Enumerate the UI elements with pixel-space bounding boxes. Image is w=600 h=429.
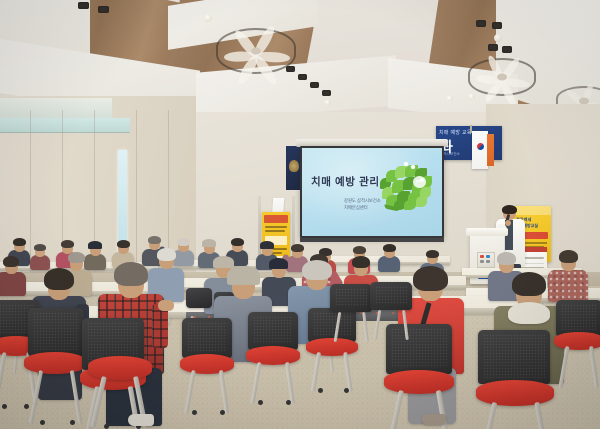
person-hair — [302, 260, 332, 280]
leaf-brain-graphic — [378, 164, 434, 212]
ceiling-fan — [216, 28, 296, 74]
chair-seat — [88, 356, 152, 380]
yellow-stand-header — [264, 215, 288, 223]
chair-caster — [318, 388, 323, 393]
chair-seat — [384, 370, 454, 394]
chair-leg — [334, 312, 342, 342]
chair-leg — [219, 370, 229, 414]
chair-leg — [362, 312, 369, 342]
emblem-icon — [289, 160, 299, 172]
slide-subtitle-line-2: 치매안심센터 — [344, 205, 368, 211]
person-hair — [512, 272, 546, 296]
chair-leg — [558, 346, 569, 388]
presenter-hand — [505, 220, 511, 226]
chair-leg — [343, 352, 353, 392]
chair-caster — [104, 424, 109, 429]
person-torso — [0, 272, 26, 296]
ceiling-downlight — [324, 100, 331, 105]
ceiling-spotlight — [502, 46, 512, 53]
chair-leg — [311, 352, 321, 392]
person-hair — [497, 252, 516, 265]
shoe-shape — [422, 414, 446, 425]
ceiling-fan — [468, 58, 536, 96]
audience-member — [30, 244, 50, 268]
person-hair — [114, 262, 148, 286]
person-cap — [227, 266, 260, 285]
podium-top-surface — [466, 228, 508, 236]
chair-leg — [484, 402, 498, 429]
chair-leg — [184, 370, 196, 414]
person-cap — [88, 241, 102, 249]
person-hair — [177, 238, 190, 246]
chair-caster — [70, 420, 75, 425]
photo-scene: 치매 예방 교육 좌 삼척시보건소 치매 예방 관리 강원도 삼척시보건소 치매… — [0, 0, 600, 429]
person-hair — [44, 268, 74, 290]
chair-seat — [180, 354, 234, 374]
chair-leg — [0, 352, 7, 406]
ceiling-spotlight — [476, 20, 486, 27]
person-hair — [148, 236, 161, 244]
hand-shape — [158, 300, 174, 311]
chair-leg — [389, 390, 404, 429]
person-hair — [413, 266, 448, 291]
projection-screen: 치매 예방 관리 강원도 삼척시보건소 치매안심센터 — [300, 146, 444, 238]
chair-caster — [2, 404, 7, 409]
chair-caster — [40, 420, 45, 425]
wall-panel-seam — [136, 110, 137, 286]
podium-indicator — [480, 255, 484, 258]
fan-hub — [251, 48, 261, 55]
ceiling-spotlight — [298, 74, 307, 80]
shoe-shape — [128, 414, 154, 426]
chair-caster — [220, 410, 225, 415]
person-hood — [508, 302, 550, 324]
chair-backrest — [28, 308, 84, 356]
chair-leg — [29, 370, 43, 424]
chair-leg — [285, 362, 295, 404]
chair-backrest — [370, 282, 412, 310]
person-hair — [559, 250, 578, 263]
chair-leg — [374, 310, 382, 340]
chair[interactable] — [556, 300, 600, 388]
person-hair — [157, 248, 176, 261]
person-hair — [68, 252, 85, 263]
yellow-stand-text-line — [265, 226, 287, 228]
flower-accent-icon — [420, 178, 424, 182]
person-hair — [353, 246, 366, 254]
person-shoe — [128, 414, 154, 426]
person-hair — [117, 240, 130, 248]
chair[interactable] — [478, 330, 564, 429]
podium-indicator — [480, 260, 484, 263]
ceiling-spotlight — [98, 6, 109, 13]
chair-leg — [250, 362, 261, 404]
person-hair — [352, 256, 370, 268]
chair-leg — [589, 346, 599, 388]
flower-accent-icon — [404, 162, 408, 166]
chair-caster — [344, 388, 349, 393]
chair[interactable] — [370, 282, 418, 340]
audience-member — [378, 244, 400, 270]
person-hair — [383, 244, 396, 252]
fan-hub — [497, 74, 507, 81]
chair-backrest — [478, 330, 550, 384]
person-hair — [61, 240, 74, 248]
ceiling-spotlight — [322, 90, 331, 96]
ceiling-spotlight — [488, 44, 498, 51]
chair-leg — [402, 310, 409, 340]
blue-banner-top-text: 치매 예방 교육 — [439, 129, 472, 136]
ceiling-spotlight — [310, 82, 319, 88]
chair-leg — [90, 376, 107, 428]
person-torso — [378, 256, 400, 272]
presenter-hair — [502, 205, 517, 214]
chair[interactable] — [248, 312, 310, 404]
person-shoe — [422, 414, 446, 425]
handbag — [186, 288, 212, 308]
ceiling-spotlight — [492, 22, 502, 29]
person-cap — [260, 241, 274, 249]
korean-flag-icon — [472, 131, 488, 169]
ceiling-downlight — [446, 96, 453, 101]
projection-screen-surface: 치매 예방 관리 강원도 삼척시보건소 치매안심센터 — [302, 148, 442, 236]
chair-backrest — [330, 284, 372, 312]
chair-leg — [534, 402, 546, 429]
chair-seat — [24, 352, 86, 374]
chair-caster — [192, 410, 197, 415]
projection-screen-bottom-bar — [300, 238, 444, 242]
orange-flag — [487, 134, 494, 166]
slide-subtitle-line-1: 강원도 삼척시보건소 — [344, 198, 381, 204]
chair-backrest — [182, 318, 232, 358]
person-hair — [291, 244, 304, 252]
chair-caster — [286, 400, 291, 405]
flower-accent-icon — [411, 165, 415, 169]
ceiling-downlight — [494, 34, 502, 42]
person-hair — [231, 238, 244, 246]
ceiling-downlight — [204, 14, 212, 22]
brain-leaf — [416, 196, 427, 207]
brain-leaf — [404, 200, 416, 210]
ceiling-spotlight — [78, 2, 89, 9]
chair-caster — [258, 400, 263, 405]
person-hand — [158, 300, 174, 311]
person-hair — [34, 244, 46, 251]
person-cap — [202, 239, 216, 247]
slide-title: 치매 예방 관리 — [311, 174, 380, 189]
chair-seat — [246, 346, 300, 365]
chair[interactable] — [182, 318, 244, 414]
audience-member — [0, 256, 26, 294]
chair-backrest — [556, 300, 600, 336]
yellow-stand-text-line — [265, 230, 285, 232]
person-hair — [13, 238, 26, 246]
person-hair — [426, 250, 439, 258]
chair-backrest — [248, 312, 298, 350]
person-hair — [3, 256, 19, 267]
chair-seat — [476, 380, 554, 406]
